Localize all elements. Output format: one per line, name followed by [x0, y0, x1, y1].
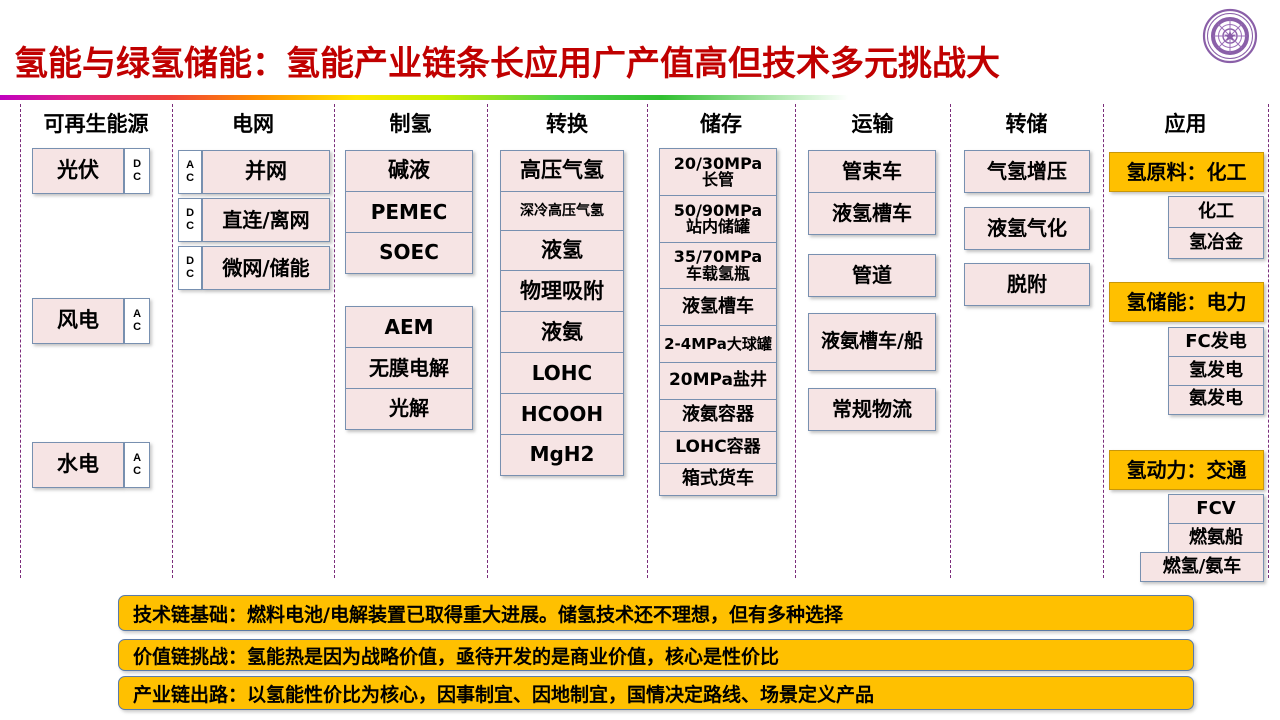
badge-pv-dc: DC — [124, 148, 150, 194]
column-separator — [1103, 104, 1104, 578]
column-separator — [950, 104, 951, 578]
node-lh2-tanker[interactable]: 液氢槽车 — [659, 288, 777, 326]
column-header-grid: 电网 — [172, 108, 334, 138]
column-separator — [795, 104, 796, 578]
node-ammonia-tanker-ship[interactable]: 液氨槽车/船 — [808, 313, 936, 371]
university-seal-logo — [1202, 8, 1258, 64]
badge-grid-ac: AC — [178, 150, 202, 194]
column-separator — [172, 104, 173, 578]
node-high-pressure-h2[interactable]: 高压气氢 — [500, 150, 624, 192]
badge-microgrid-dc: DC — [178, 246, 202, 290]
node-pipeline[interactable]: 管道 — [808, 254, 936, 297]
node-app-mobility-header[interactable]: 氢动力：交通 — [1109, 450, 1264, 490]
node-wind[interactable]: 风电 — [32, 298, 124, 344]
badge-letter: AC — [131, 452, 143, 478]
column-separator — [487, 104, 488, 578]
badge-letter: AC — [131, 308, 143, 334]
node-line-2: 站内储罐 — [686, 219, 750, 235]
node-cryo-compressed-h2[interactable]: 深冷高压气氢 — [500, 191, 624, 231]
node-pv[interactable]: 光伏 — [32, 148, 124, 194]
node-line-2: 长管 — [702, 172, 734, 188]
node-hcooh[interactable]: HCOOH — [500, 393, 624, 435]
node-soec[interactable]: SOEC — [345, 232, 473, 274]
badge-letter: DC — [184, 207, 196, 233]
node-app-h2-nh3-vehicle[interactable]: 燃氢/氨车 — [1140, 552, 1264, 582]
column-header-reconversion: 转储 — [950, 108, 1103, 138]
column-header-transport: 运输 — [795, 108, 950, 138]
node-onboard-cylinder-35-70mpa[interactable]: 35/70MPa 车载氢瓶 — [659, 242, 777, 290]
production-group-2: AEM 无膜电解 光解 — [345, 306, 473, 430]
title-divider-rule — [0, 95, 848, 100]
badge-hydro-ac: AC — [124, 442, 150, 488]
node-microgrid-storage[interactable]: 微网/储能 — [202, 246, 330, 290]
node-app-h2-metallurgy[interactable]: 氢冶金 — [1168, 227, 1264, 259]
node-app-chemicals[interactable]: 化工 — [1168, 196, 1264, 228]
node-physical-adsorption[interactable]: 物理吸附 — [500, 270, 624, 312]
storage-group: 20/30MPa 长管 50/90MPa 站内储罐 35/70MPa 车载氢瓶 … — [659, 148, 777, 496]
node-mgh2[interactable]: MgH2 — [500, 434, 624, 476]
production-group-1: 碱液 PEMEC SOEC — [345, 150, 473, 274]
node-station-tank-50-90mpa[interactable]: 50/90MPa 站内储罐 — [659, 195, 777, 243]
node-h2-compression[interactable]: 气氢增压 — [964, 150, 1090, 193]
node-sphere-tank-2-4mpa[interactable]: 2-4MPa大球罐 — [659, 325, 777, 363]
node-hydro[interactable]: 水电 — [32, 442, 124, 488]
column-separator — [1268, 104, 1269, 578]
app-mobility-items: FCV 燃氨船 — [1168, 494, 1264, 553]
badge-letter: DC — [131, 158, 143, 184]
page-title: 氢能与绿氢储能：氢能产业链条长应用广产值高但技术多元挑战大 — [14, 36, 1000, 85]
node-tube-trailer-20-30mpa[interactable]: 20/30MPa 长管 — [659, 148, 777, 196]
node-desorption[interactable]: 脱附 — [964, 263, 1090, 306]
node-app-storage-header[interactable]: 氢储能：电力 — [1109, 282, 1264, 322]
node-app-fcv[interactable]: FCV — [1168, 494, 1264, 524]
node-alkaline[interactable]: 碱液 — [345, 150, 473, 192]
node-line-2: 车载氢瓶 — [686, 266, 750, 282]
column-header-production: 制氢 — [334, 108, 487, 138]
node-app-feedstock-header[interactable]: 氢原料：化工 — [1109, 152, 1264, 192]
node-box-truck[interactable]: 箱式货车 — [659, 463, 777, 496]
node-liquid-ammonia[interactable]: 液氨 — [500, 311, 624, 353]
app-feedstock-items: 化工 氢冶金 — [1168, 196, 1264, 259]
node-app-ammonia-ship[interactable]: 燃氨船 — [1168, 523, 1264, 553]
node-app-fc-power[interactable]: FC发电 — [1168, 327, 1264, 357]
node-liquid-hydrogen[interactable]: 液氢 — [500, 230, 624, 272]
badge-letter: AC — [184, 159, 196, 185]
column-header-conversion: 转换 — [487, 108, 647, 138]
app-power-items: FC发电 氢发电 氨发电 — [1168, 327, 1264, 415]
column-separator — [647, 104, 648, 578]
node-lh2-tanker-truck[interactable]: 液氢槽车 — [808, 192, 936, 235]
node-lh2-vaporization[interactable]: 液氢气化 — [964, 207, 1090, 250]
node-app-h2-power[interactable]: 氢发电 — [1168, 356, 1264, 386]
node-conventional-logistics[interactable]: 常规物流 — [808, 388, 936, 431]
node-pemec[interactable]: PEMEC — [345, 191, 473, 233]
badge-letter: DC — [184, 255, 196, 281]
node-photolysis[interactable]: 光解 — [345, 388, 473, 430]
banner-value-chain[interactable]: 价值链挑战：氢能热是因为战略价值，亟待开发的是商业价值，核心是性价比 — [118, 639, 1194, 671]
node-ammonia-vessel[interactable]: 液氨容器 — [659, 399, 777, 432]
banner-industry-chain[interactable]: 产业链出路：以氢能性价比为核心，因事制宜、因地制宜，国情决定路线、场景定义产品 — [118, 676, 1194, 710]
column-separator — [20, 104, 21, 578]
node-membraneless[interactable]: 无膜电解 — [345, 347, 473, 389]
column-header-storage: 储存 — [647, 108, 795, 138]
column-header-renewable: 可再生能源 — [20, 108, 172, 138]
node-lohc-vessel[interactable]: LOHC容器 — [659, 431, 777, 464]
column-separator — [334, 104, 335, 578]
node-salt-cavern-20mpa[interactable]: 20MPa盐井 — [659, 362, 777, 400]
conversion-group: 高压气氢 深冷高压气氢 液氢 物理吸附 液氨 LOHC HCOOH MgH2 — [500, 150, 624, 476]
node-app-nh3-power[interactable]: 氨发电 — [1168, 385, 1264, 415]
column-header-application: 应用 — [1103, 108, 1268, 138]
node-lohc[interactable]: LOHC — [500, 352, 624, 394]
banner-tech-chain[interactable]: 技术链基础：燃料电池/电解装置已取得重大进展。储氢技术还不理想，但有多种选择 — [118, 595, 1194, 631]
node-grid-connected[interactable]: 并网 — [202, 150, 330, 194]
transport-group-1: 管束车 液氢槽车 — [808, 150, 936, 235]
badge-offgrid-dc: DC — [178, 198, 202, 242]
node-tube-trailer[interactable]: 管束车 — [808, 150, 936, 193]
node-direct-offgrid[interactable]: 直连/离网 — [202, 198, 330, 242]
node-aem[interactable]: AEM — [345, 306, 473, 348]
badge-wind-ac: AC — [124, 298, 150, 344]
